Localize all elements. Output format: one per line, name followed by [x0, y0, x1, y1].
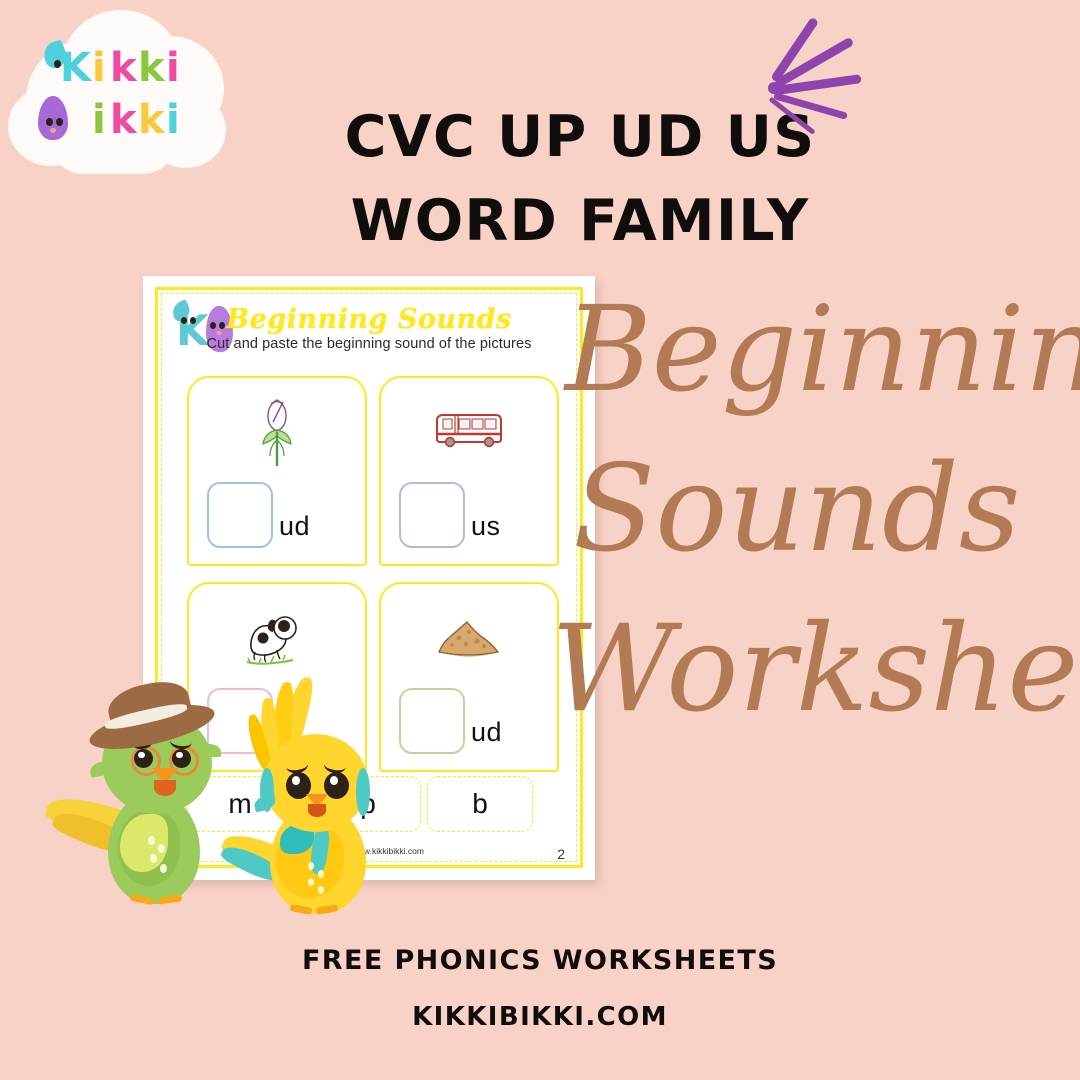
rose-bud-icon	[189, 392, 365, 470]
logo-char-k5: k	[138, 100, 165, 140]
logo-line-two: B i k k i	[60, 100, 190, 148]
logo-char-k4: k	[110, 100, 137, 140]
footer-line-2: KIKKIBIKKI.COM	[0, 1002, 1080, 1032]
logo-char-k2: k	[110, 48, 137, 88]
script-overlay-text: Beginning Sounds Worksheets	[555, 292, 1080, 792]
yellow-bird	[230, 676, 410, 916]
school-bus-icon	[381, 392, 557, 470]
script-line-3: Worksheets	[551, 612, 1080, 728]
logo-char-k3: k	[138, 48, 165, 88]
worksheet-instructions: Cut and paste the beginning sound of the…	[143, 336, 595, 352]
script-line-1: Beginning	[565, 292, 1080, 406]
logo-char-i2: i	[166, 48, 180, 88]
puppy-dog-icon	[189, 598, 365, 676]
logo-bird-purple-eyes-icon	[46, 118, 68, 126]
worksheet-title: Beginning Sounds	[143, 304, 595, 335]
footer-line-1: FREE PHONICS WORKSHEETS	[0, 945, 1080, 976]
letter-tile-3[interactable]: b	[427, 776, 533, 832]
logo-char-i1: i	[92, 48, 106, 88]
mud-mound-icon	[381, 598, 557, 676]
green-bird-with-hat	[46, 684, 246, 914]
script-line-2: Sounds	[573, 452, 1020, 568]
logo-char-i4: i	[166, 100, 180, 140]
word-ending-1: ud	[279, 511, 310, 542]
worksheet-cell-2[interactable]: us	[379, 376, 559, 566]
answer-box-2[interactable]	[399, 482, 465, 548]
logo-bird-beak-icon	[50, 128, 56, 133]
poster-canvas: K i k k i B i k k i CVC UP UD US WORD	[0, 0, 1080, 1080]
letter-tile-3-label: b	[428, 788, 532, 820]
logo-char-k1: K	[60, 48, 91, 88]
brand-logo-cloud: K i k k i B i k k i	[4, 6, 234, 191]
title-line-2: WORD FAMILY	[300, 179, 860, 263]
answer-box-1[interactable]	[207, 482, 273, 548]
confetti-burst-icon	[760, 30, 870, 150]
brand-logo-text: K i k k i B i k k i	[60, 48, 190, 148]
worksheet-page-number: 2	[557, 846, 565, 862]
word-ending-2: us	[471, 511, 501, 542]
logo-char-i3: i	[92, 100, 106, 140]
word-ending-4: ud	[471, 717, 502, 748]
logo-line-one: K i k k i	[60, 48, 190, 96]
worksheet-cell-1[interactable]: ud	[187, 376, 367, 566]
